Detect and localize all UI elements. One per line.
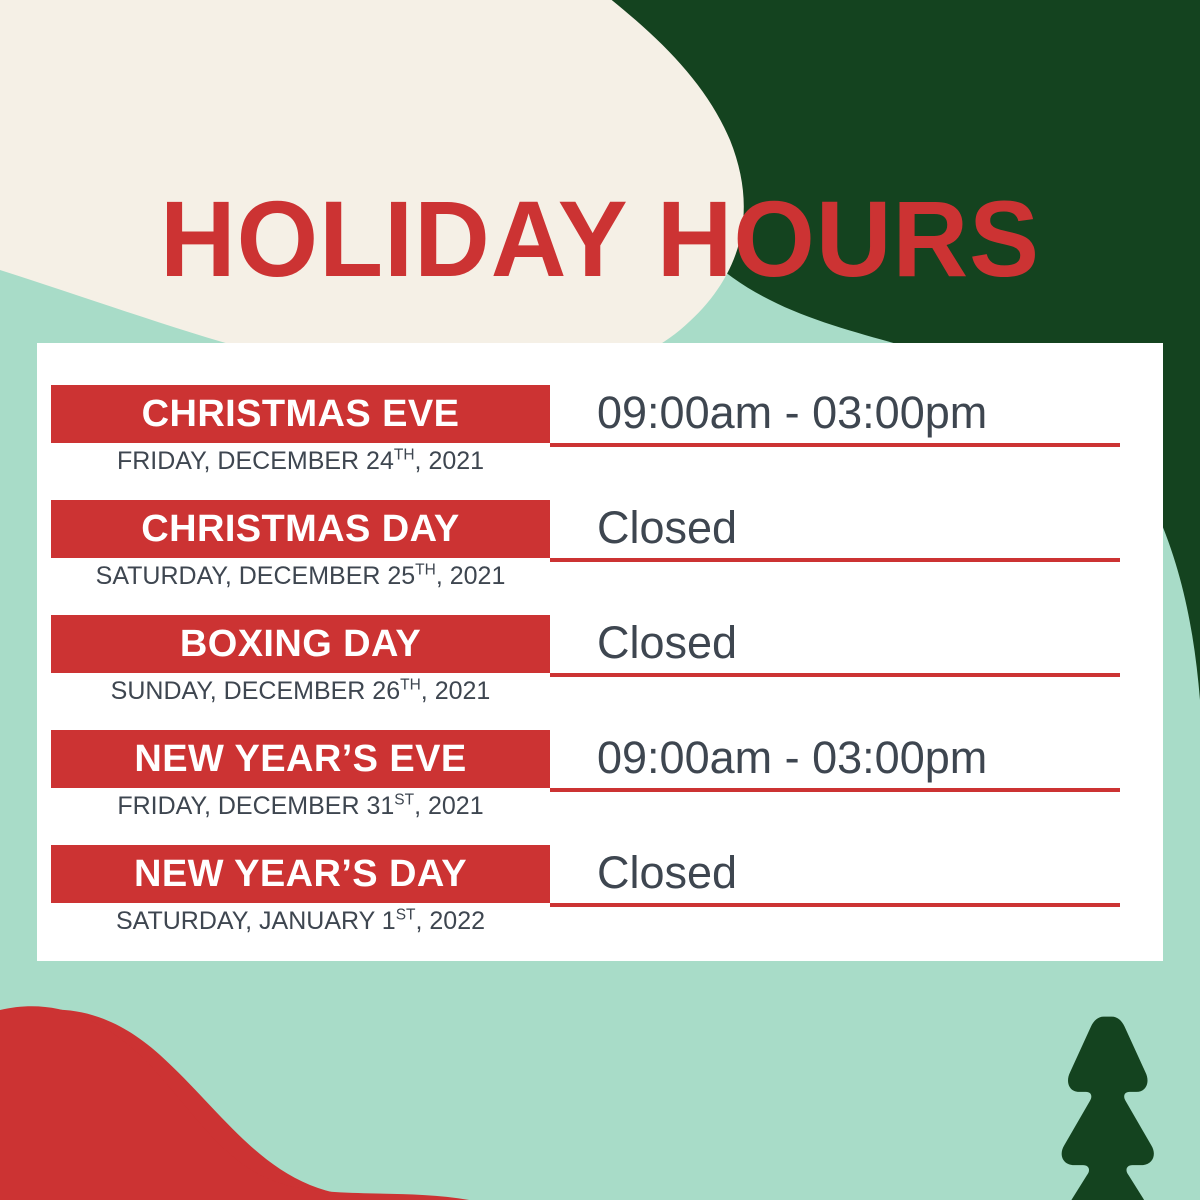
holiday-date-ordinal: ST xyxy=(396,907,416,924)
holiday-hours: Closed xyxy=(597,843,1147,903)
holiday-hours: 09:00am - 03:00pm xyxy=(597,728,1147,788)
holiday-hours: 09:00am - 03:00pm xyxy=(597,383,1147,443)
schedule-row: CHRISTMAS DAY SATURDAY, DECEMBER 25TH, 2… xyxy=(37,458,1163,573)
schedule-row: NEW YEAR’S DAY SATURDAY, JANUARY 1ST, 20… xyxy=(37,803,1163,918)
holiday-name: CHRISTMAS DAY xyxy=(131,510,469,548)
schedule-rows: CHRISTMAS EVE FRIDAY, DECEMBER 24TH, 202… xyxy=(37,343,1163,961)
schedule-row: NEW YEAR’S EVE FRIDAY, DECEMBER 31ST, 20… xyxy=(37,688,1163,803)
holiday-name-band: NEW YEAR’S EVE xyxy=(51,730,550,788)
holiday-name: NEW YEAR’S EVE xyxy=(124,740,476,778)
holiday-name: CHRISTMAS EVE xyxy=(132,395,470,433)
row-underline xyxy=(550,788,1120,792)
holiday-date-suffix: , 2022 xyxy=(416,907,486,935)
holiday-date: SATURDAY, JANUARY 1ST, 2022 xyxy=(51,907,550,935)
holiday-name: BOXING DAY xyxy=(170,625,431,663)
schedule-row: BOXING DAY SUNDAY, DECEMBER 26TH, 2021 C… xyxy=(37,573,1163,688)
row-underline xyxy=(550,443,1120,447)
holiday-hours: Closed xyxy=(597,498,1147,558)
holiday-name-band: BOXING DAY xyxy=(51,615,550,673)
holiday-date-prefix: SATURDAY, JANUARY 1 xyxy=(116,907,396,935)
row-underline xyxy=(550,903,1120,907)
row-underline xyxy=(550,673,1120,677)
holiday-hours-poster: HOLIDAY HOURS CHRISTMAS EVE FRIDAY, DECE… xyxy=(0,0,1200,1200)
holiday-name-band: CHRISTMAS EVE xyxy=(51,385,550,443)
schedule-row: CHRISTMAS EVE FRIDAY, DECEMBER 24TH, 202… xyxy=(37,343,1163,458)
holiday-name-band: NEW YEAR’S DAY xyxy=(51,845,550,903)
row-underline xyxy=(550,558,1120,562)
holiday-name: NEW YEAR’S DAY xyxy=(124,855,477,893)
page-title: HOLIDAY HOURS xyxy=(18,185,1182,293)
schedule-card: CHRISTMAS EVE FRIDAY, DECEMBER 24TH, 202… xyxy=(37,343,1163,961)
holiday-name-band: CHRISTMAS DAY xyxy=(51,500,550,558)
holiday-hours: Closed xyxy=(597,613,1147,673)
